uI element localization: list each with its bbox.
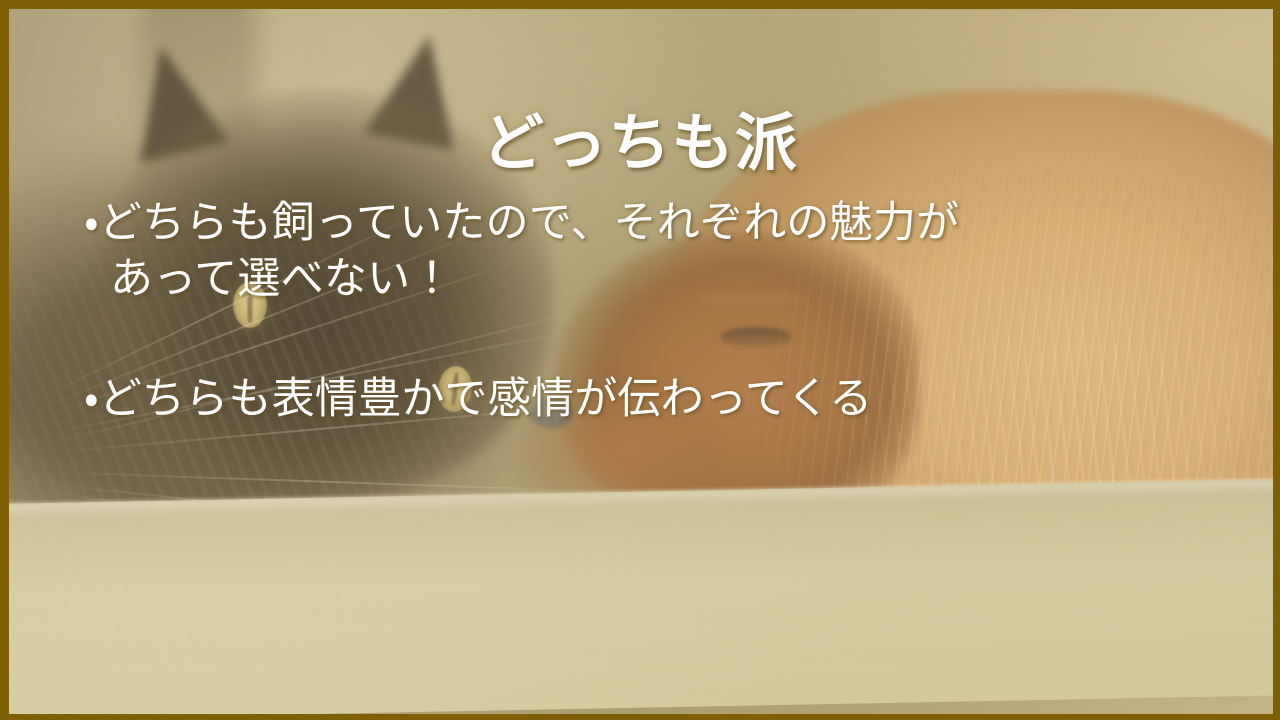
bullet-2-line-1: ・どちらも表情豊かで感情が伝わってくる <box>84 372 1220 428</box>
bullet-1-line-1: ・どちらも飼っていたので、それぞれの魅力が <box>84 196 1220 252</box>
slide-title: どっちも派 <box>0 110 1280 177</box>
bullet-item-1: ・どちらも飼っていたので、それぞれの魅力が あって選べない！ <box>84 196 1220 308</box>
bullet-1-line-2: あって選べない！ <box>84 252 1220 308</box>
slide-canvas: どっちも派 ・どちらも飼っていたので、それぞれの魅力が あって選べない！ ・どち… <box>0 0 1280 720</box>
bullet-list: ・どちらも飼っていたので、それぞれの魅力が あって選べない！ ・どちらも表情豊か… <box>84 196 1220 428</box>
bullet-item-2: ・どちらも表情豊かで感情が伝わってくる <box>84 372 1220 428</box>
